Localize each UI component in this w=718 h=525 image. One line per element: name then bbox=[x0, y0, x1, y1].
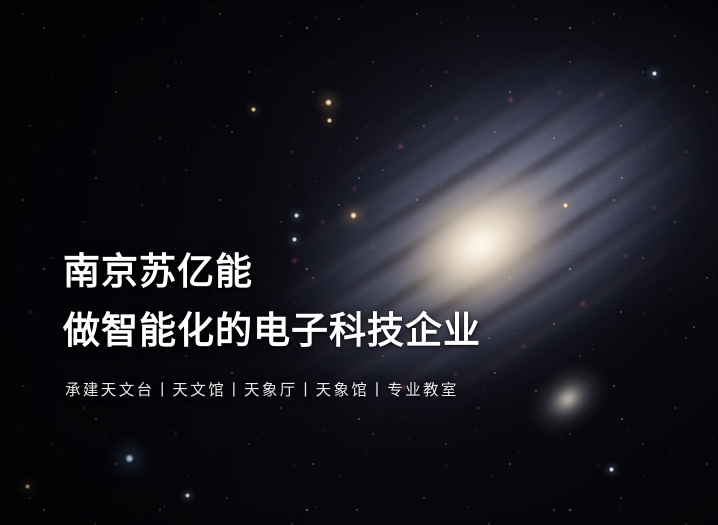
star-warm-bottom-left bbox=[25, 484, 30, 489]
hero-title-line-1: 南京苏亿能 bbox=[63, 248, 663, 295]
hero-copy-block: 南京苏亿能 做智能化的电子科技企业 承建天文台丨天文馆丨天象厅丨天象馆丨专业教室 bbox=[63, 248, 663, 401]
star-warm-left-upper bbox=[251, 107, 256, 112]
hero-subtitle: 承建天文台丨天文馆丨天象厅丨天象馆丨专业教室 bbox=[65, 380, 663, 402]
hero-title-line-2: 做智能化的电子科技企业 bbox=[63, 307, 663, 354]
star-white-right-low bbox=[609, 467, 614, 472]
star-blue-lower-left bbox=[125, 454, 134, 463]
hero-banner: 南京苏亿能 做智能化的电子科技企业 承建天文台丨天文馆丨天象厅丨天象馆丨专业教室 bbox=[0, 0, 718, 525]
star-white-lower-mid bbox=[185, 493, 190, 498]
